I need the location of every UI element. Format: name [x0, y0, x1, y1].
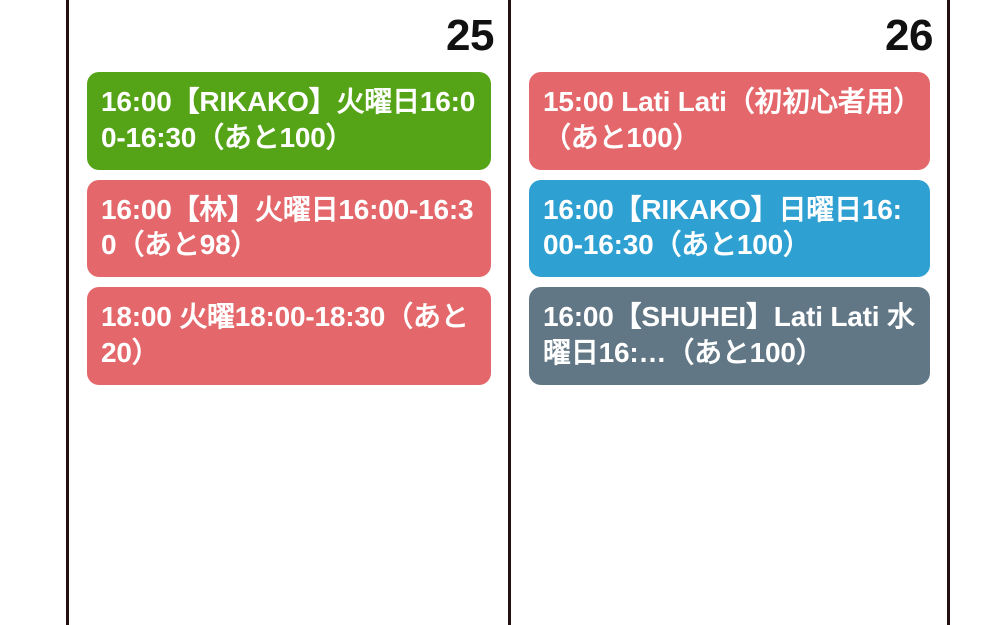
- day-column-25[interactable]: 25 16:00【RIKAKO】火曜日16:00-16:30（あと100） 16…: [66, 0, 508, 625]
- event-list-26: 15:00 Lati Lati（初初心者用）（あと100） 16:00【RIKA…: [511, 72, 947, 625]
- day-header-25: 25: [69, 0, 508, 72]
- day-number-25[interactable]: 25: [446, 14, 494, 58]
- event-list-25: 16:00【RIKAKO】火曜日16:00-16:30（あと100） 16:00…: [69, 72, 508, 625]
- event-rikako-sunday[interactable]: 16:00【RIKAKO】日曜日16:00-16:30（あと100）: [529, 180, 930, 278]
- event-shuhei-lati-lati-wednesday[interactable]: 16:00【SHUHEI】Lati Lati 水曜日16:…（あと100）: [529, 287, 930, 385]
- event-rikako-tuesday[interactable]: 16:00【RIKAKO】火曜日16:00-16:30（あと100）: [87, 72, 491, 170]
- day-header-26: 26: [511, 0, 947, 72]
- day-column-26[interactable]: 26 15:00 Lati Lati（初初心者用）（あと100） 16:00【R…: [508, 0, 950, 625]
- event-lati-lati-beginner[interactable]: 15:00 Lati Lati（初初心者用）（あと100）: [529, 72, 930, 170]
- calendar-left-gutter: [0, 0, 66, 625]
- day-number-26[interactable]: 26: [885, 14, 933, 58]
- calendar-week-view: 25 16:00【RIKAKO】火曜日16:00-16:30（あと100） 16…: [0, 0, 1000, 625]
- event-hayashi-tuesday[interactable]: 16:00【林】火曜日16:00-16:30（あと98）: [87, 180, 491, 278]
- event-tuesday-1800[interactable]: 18:00 火曜18:00-18:30（あと20）: [87, 287, 491, 385]
